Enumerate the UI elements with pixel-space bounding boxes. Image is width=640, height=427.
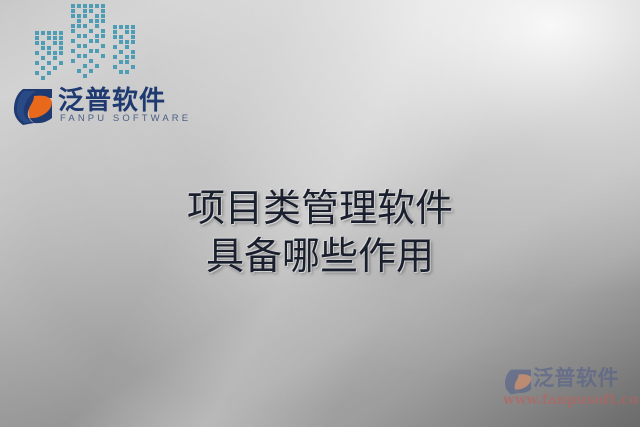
page-title-line-2: 具备哪些作用 [0, 232, 640, 280]
page-title-line-1: 项目类管理软件 [0, 184, 640, 232]
watermark-url: www.fanpusoft.com [503, 392, 640, 408]
logo-company-name-cn: 泛普软件 [58, 86, 166, 116]
watermark-company-name: 泛普软件 [533, 365, 619, 391]
logo-company-name-en: FANPU SOFTWARE [60, 113, 191, 124]
promo-banner: 泛普软件 FANPU SOFTWARE 项目类管理软件 具备哪些作用 泛普软件 … [0, 0, 640, 427]
brand-logo: 泛普软件 FANPU SOFTWARE [12, 86, 164, 130]
pixelated-buildings-icon [34, 2, 140, 82]
page-title: 项目类管理软件 具备哪些作用 [0, 184, 640, 280]
fanpu-hexagon-logo-mark [12, 88, 54, 126]
brand-watermark: 泛普软件 www.fanpusoft.com [503, 365, 635, 417]
